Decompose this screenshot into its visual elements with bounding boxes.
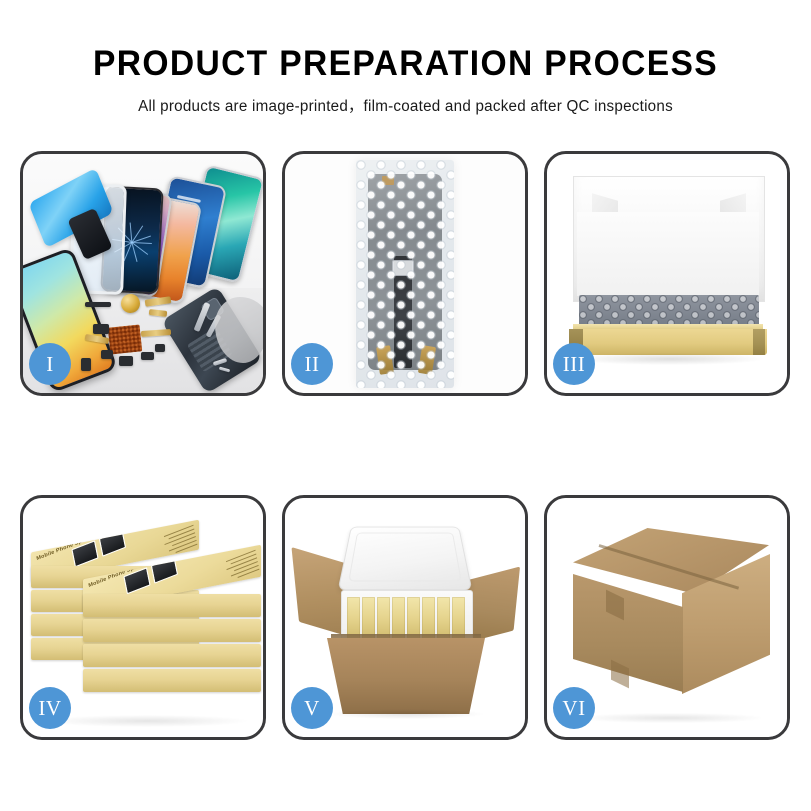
page-subtitle: All products are image-printed，film-coat… [8, 94, 803, 116]
step-badge-4: IV [29, 687, 71, 729]
gold-tray-corner-right [753, 329, 765, 355]
bubble-wrap-texture [356, 160, 454, 388]
drop-shadow [331, 709, 483, 719]
chip-part [101, 350, 113, 359]
gold-box-layer [83, 594, 261, 617]
process-step-panel-6[interactable]: VI [544, 495, 790, 740]
gold-box-stacks: Mobile Phone Spare Parts [31, 516, 261, 722]
process-step-panel-4[interactable]: Mobile Phone Spare Parts [20, 495, 266, 740]
process-step-panel-3[interactable]: III [544, 151, 790, 396]
product-preparation-page: PRODUCT PREPARATION PROCESS All products… [0, 0, 811, 811]
step-badge-6: VI [553, 687, 595, 729]
gold-component [121, 294, 140, 313]
chip-part [119, 356, 133, 366]
gold-tray-front [569, 329, 767, 355]
chip-part [81, 358, 91, 371]
box-spec-lines [208, 548, 260, 589]
bubble-wrap-package [356, 160, 454, 388]
drop-shadow [581, 713, 761, 723]
page-title: PRODUCT PREPARATION PROCESS [16, 44, 795, 84]
copper-contact-grid [108, 324, 143, 354]
process-step-panel-1[interactable]: I [20, 151, 266, 396]
gold-box-layer [83, 619, 261, 642]
process-step-panel-5[interactable]: V [282, 495, 528, 740]
box-screen-artwork [71, 526, 130, 568]
step-badge-3: III [553, 343, 595, 385]
step-badge-5: V [291, 687, 333, 729]
step-badge-2: II [291, 343, 333, 385]
chip-part [141, 352, 154, 360]
gold-box-layer [83, 644, 261, 667]
carton-body [327, 638, 485, 714]
process-step-grid: I II [20, 151, 791, 740]
white-foam-backing [577, 212, 759, 296]
drop-shadow [47, 715, 247, 727]
step-badge-1: I [29, 343, 71, 385]
header: PRODUCT PREPARATION PROCESS All products… [0, 0, 811, 116]
chip-part [93, 324, 109, 334]
chip-part [85, 302, 111, 307]
chip-part [155, 344, 165, 352]
process-step-panel-2[interactable]: II [282, 151, 528, 396]
drop-shadow [575, 353, 763, 365]
gold-box-layer [83, 669, 261, 692]
foam-lid-open [338, 527, 473, 591]
